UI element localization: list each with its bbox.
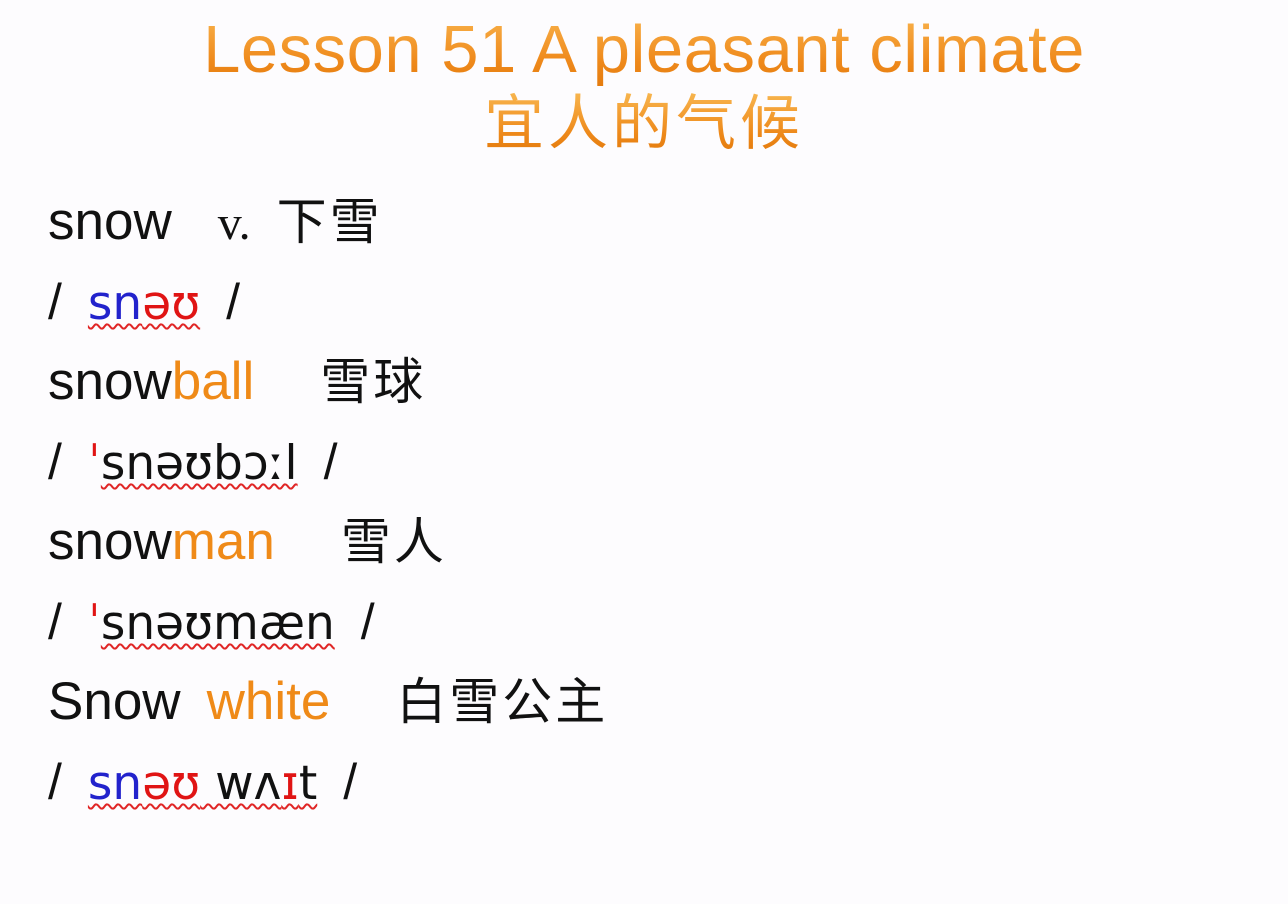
vocab-translation: 下雪 <box>277 193 383 251</box>
vocab-word-base: snow <box>48 352 172 411</box>
vocab-entry-word-line: snowv.下雪 <box>48 182 1288 262</box>
phonetic-segment: əʊ <box>142 756 200 811</box>
phonetic-segment: sn <box>88 276 142 331</box>
page-subtitle: 宜人的气候 <box>0 88 1288 160</box>
page-title: Lesson 51 A pleasant climate <box>0 8 1288 92</box>
phonetic-close-slash: / <box>226 274 240 330</box>
vocab-word-base: Snow <box>48 672 181 731</box>
vocab-entry-word-line: Snowwhite白雪公主 <box>48 662 1288 742</box>
vocab-word-base: snow <box>48 192 172 251</box>
phonetic-segment: əʊ <box>142 276 200 331</box>
phonetic-segment: ɪ <box>281 756 298 811</box>
phonetic-stress-mark: ˈ <box>88 596 101 651</box>
vocab-translation: 雪人 <box>341 513 447 571</box>
vocab-entry-phonetic-line: /ˈsnəʊmæn/ <box>48 582 1288 662</box>
phonetic-open-slash: / <box>48 274 62 330</box>
vocab-entry-phonetic-line: /snəʊ/ <box>48 262 1288 342</box>
vocab-word-base: snow <box>48 512 172 571</box>
phonetic-open-slash: / <box>48 434 62 490</box>
vocab-entry-phonetic-line: /snəʊ wʌɪt/ <box>48 742 1288 822</box>
phonetic-stress-mark: ˈ <box>88 436 101 491</box>
phonetic-segment: sn <box>88 756 142 811</box>
title-block: Lesson 51 A pleasant climate 宜人的气候 <box>0 0 1288 160</box>
vocab-word-highlight: man <box>172 512 275 571</box>
vocab-word-highlight: ball <box>172 352 255 411</box>
vocab-entry-word-line: snowball雪球 <box>48 342 1288 422</box>
phonetic-segment: t <box>299 756 317 811</box>
phonetic-open-slash: / <box>48 594 62 650</box>
phonetic-segment: wʌ <box>200 756 281 811</box>
phonetic-close-slash: / <box>324 434 338 490</box>
phonetic-close-slash: / <box>343 754 357 810</box>
phonetic-segment: snəʊmæn <box>101 596 335 651</box>
vocab-translation: 白雪公主 <box>396 673 608 731</box>
vocab-word-highlight: white <box>207 672 331 731</box>
phonetic-open-slash: / <box>48 754 62 810</box>
part-of-speech: v. <box>218 197 251 250</box>
vocab-entry-phonetic-line: /ˈsnəʊbɔːl/ <box>48 422 1288 502</box>
phonetic-segment: snəʊbɔːl <box>101 436 298 491</box>
vocab-entry-word-line: snowman雪人 <box>48 502 1288 582</box>
phonetic-close-slash: / <box>361 594 375 650</box>
vocabulary-list: snowv.下雪 /snəʊ/ snowball雪球 /ˈsnəʊbɔːl/ s… <box>0 182 1288 822</box>
vocab-translation: 雪球 <box>320 353 426 411</box>
